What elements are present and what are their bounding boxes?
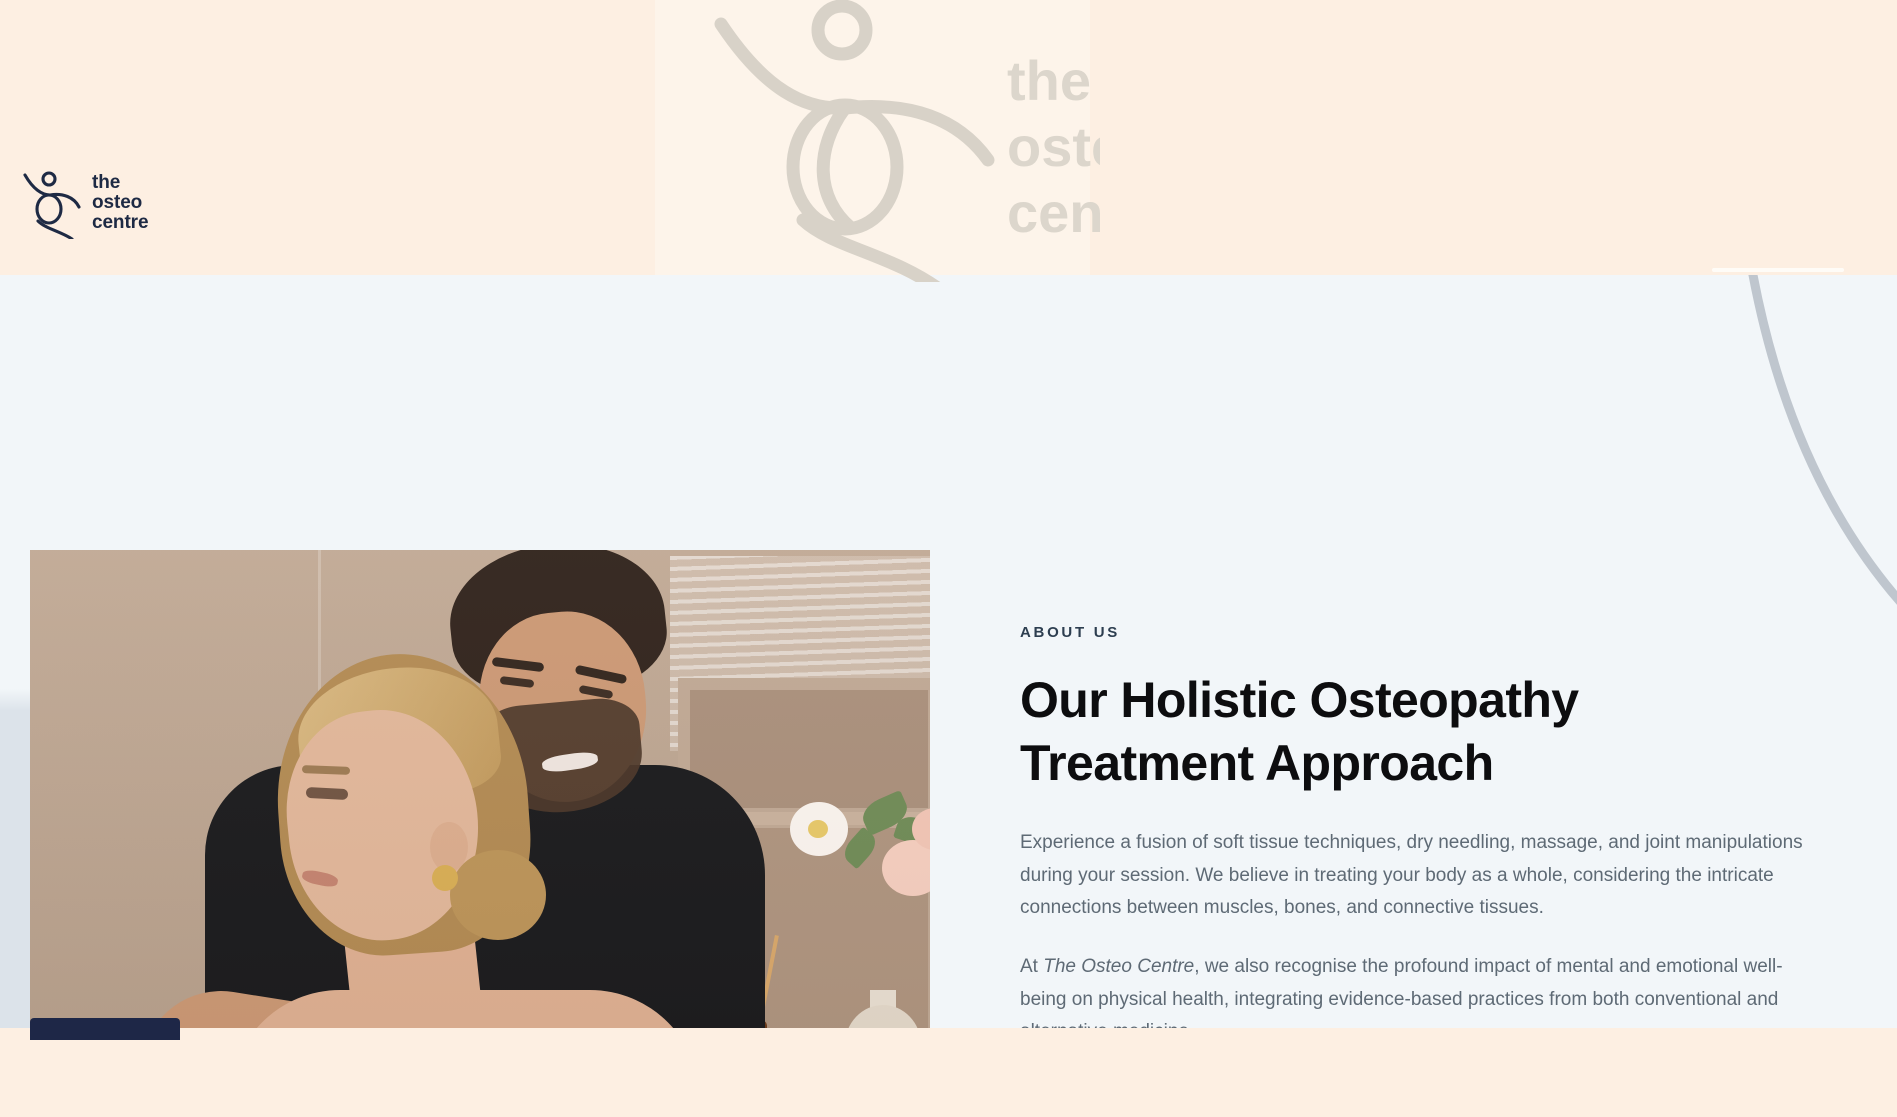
osteo-figure-icon — [22, 167, 82, 239]
brand-line-the: the — [92, 173, 148, 193]
about-section-panel: ABOUT US Our Holistic Osteopathy Treatme… — [0, 275, 1897, 1028]
about-paragraph-2: At The Osteo Centre, we also recognise t… — [1020, 951, 1810, 1028]
svg-text:centre: centre — [1007, 181, 1100, 244]
brand-line-osteo: osteo — [92, 193, 148, 213]
footer-band — [0, 1028, 1897, 1117]
paragraph2-prefix: At — [1020, 956, 1043, 977]
cta-button-partial[interactable] — [30, 1018, 180, 1040]
page-root: ABOUT US Our Holistic Osteopathy Treatme… — [0, 0, 1897, 1117]
about-treatment-photo — [30, 550, 930, 1028]
about-paragraph-1: Experience a fusion of soft tissue techn… — [1020, 827, 1810, 925]
brand-logo[interactable]: the osteo centre — [22, 163, 202, 243]
page-title: Our Holistic Osteopathy Treatment Approa… — [1020, 669, 1740, 794]
osteo-figure-watermark-icon: the osteo centre — [655, 0, 1100, 282]
svg-text:the: the — [1007, 49, 1091, 112]
about-body-copy: Experience a fusion of soft tissue techn… — [1020, 827, 1810, 1028]
about-text-column: ABOUT US Our Holistic Osteopathy Treatme… — [1020, 550, 1830, 1028]
svg-text:osteo: osteo — [1007, 115, 1100, 178]
header-right-rule — [1712, 268, 1844, 272]
brand-wordmark: the osteo centre — [92, 173, 148, 234]
brand-name-emphasis: The Osteo Centre — [1043, 956, 1194, 977]
brand-line-centre: centre — [92, 213, 148, 233]
section-eyebrow: ABOUT US — [1020, 624, 1830, 641]
photo-background — [30, 550, 930, 1028]
